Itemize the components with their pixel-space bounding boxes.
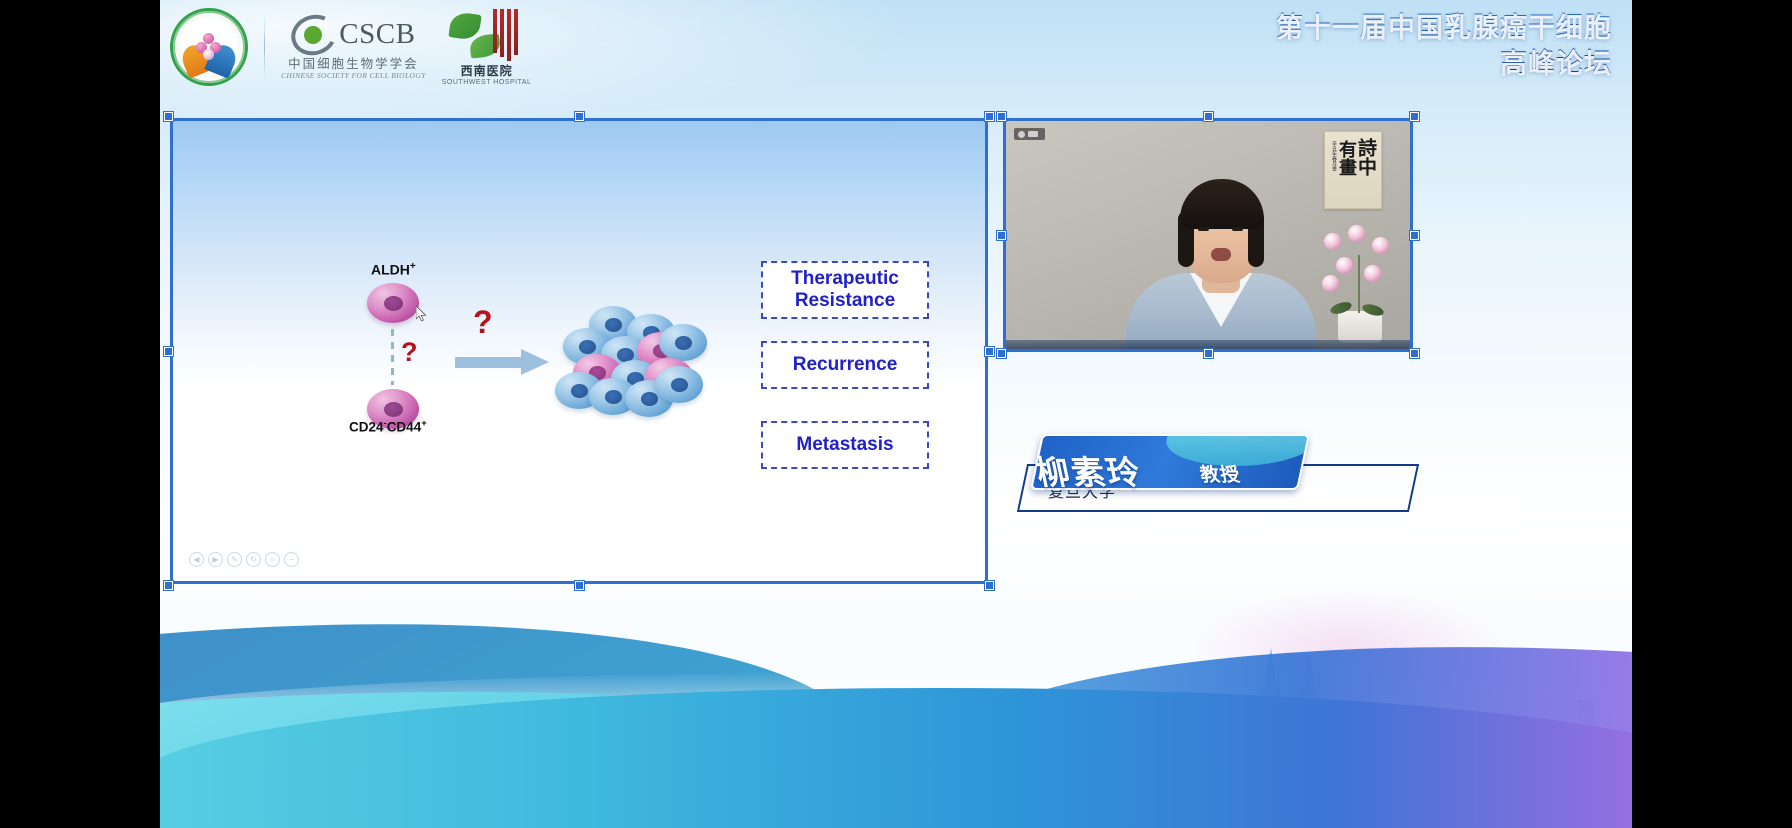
- speaker-title: 教授: [1197, 460, 1243, 487]
- slide-controls-toolbar[interactable]: ◀ ▶ ✎ ↻ ⌕ −: [189, 552, 299, 567]
- scroll-char-left: 有畫: [1336, 140, 1355, 176]
- slide-frame[interactable]: ALDH+ ? CD24-CD44+ ?: [170, 118, 988, 584]
- resize-handle-top-right[interactable]: [985, 112, 994, 121]
- cscb-english-name: CHINESE SOCIETY FOR CELL BIOLOGY: [281, 72, 426, 80]
- logo-flower-icon: [196, 33, 222, 61]
- hospital-chinese-name: 西南医院: [461, 62, 513, 79]
- outcome-box-metastasis: Metastasis: [761, 421, 929, 469]
- video-resize-handle-top-right[interactable]: [1410, 112, 1419, 121]
- cscb-mark-icon: [291, 15, 337, 55]
- cscb-logo: CSCB 中国细胞生物学学会 CHINESE SOCIETY FOR CELL …: [281, 15, 426, 80]
- question-mark-small: ?: [401, 337, 418, 368]
- speaker-nameplate: 复旦大学 柳素玲 教授: [1020, 440, 1420, 512]
- speaker-figure: [1126, 181, 1316, 349]
- resize-handle-middle-left[interactable]: [164, 347, 173, 356]
- slide-diagram: ALDH+ ? CD24-CD44+ ?: [173, 121, 985, 581]
- resize-handle-middle-right[interactable]: [985, 347, 994, 356]
- cscb-chinese-name: 中国细胞生物学学会: [288, 58, 419, 71]
- magnifier-icon[interactable]: ⌕: [265, 552, 280, 567]
- camera-icon: [1028, 131, 1038, 137]
- event-title-line2: 高峰论坛: [1276, 46, 1612, 82]
- event-title-line1: 第十一届中国乳腺癌干细胞: [1276, 10, 1612, 46]
- video-resize-handle-bottom-right[interactable]: [1410, 349, 1419, 358]
- pen-icon[interactable]: ✎: [227, 552, 242, 567]
- question-mark-large: ?: [473, 304, 493, 341]
- video-resize-handle-top-left[interactable]: [997, 112, 1006, 121]
- cscb-abbr: CSCB: [339, 20, 415, 49]
- resize-handle-bottom-right[interactable]: [985, 581, 994, 590]
- scroll-char-right: 詩中: [1355, 138, 1375, 176]
- outcome-line-1: Therapeutic: [791, 268, 899, 290]
- mouse-cursor-icon: [416, 306, 427, 322]
- resize-handle-top-center[interactable]: [575, 112, 584, 121]
- letterbox-left: [0, 0, 160, 828]
- video-resize-handle-bottom-center[interactable]: [1204, 349, 1213, 358]
- outcome-box-therapeutic-resistance: Therapeutic Resistance: [761, 261, 929, 319]
- minus-icon[interactable]: −: [284, 552, 299, 567]
- hospital-english-name: SOUTHWEST HOSPITAL: [442, 79, 532, 86]
- resize-handle-bottom-left[interactable]: [164, 581, 173, 590]
- video-bottom-bar: [1006, 340, 1410, 349]
- southwest-hospital-mark-icon: [450, 9, 524, 61]
- logo-bar: CSCB 中国细胞生物学学会 CHINESE SOCIETY FOR CELL …: [170, 8, 531, 86]
- resize-handle-bottom-center[interactable]: [575, 581, 584, 590]
- outcome-line-2: Resistance: [791, 290, 899, 312]
- speaker-video-frame[interactable]: 詩中 有畫 辛丑年春月書: [1003, 118, 1413, 352]
- rotate-icon[interactable]: ↻: [246, 552, 261, 567]
- scroll-signature: 辛丑年春月書: [1331, 141, 1338, 171]
- aldh-label: ALDH+: [371, 261, 416, 278]
- orchid-plant: [1314, 223, 1406, 343]
- speaker-video-region[interactable]: 詩中 有畫 辛丑年春月書: [1003, 118, 1413, 352]
- play-icon[interactable]: ▶: [208, 552, 223, 567]
- video-resize-handle-middle-right[interactable]: [1410, 231, 1419, 240]
- speaker-name: 柳素玲: [1031, 446, 1146, 494]
- slide-share-region[interactable]: ALDH+ ? CD24-CD44+ ?: [170, 118, 988, 584]
- tumor-cell-cluster: [555, 306, 693, 414]
- video-status-badge: [1014, 128, 1045, 140]
- outcome-box-recurrence: Recurrence: [761, 341, 929, 389]
- aldh-positive-cell: [367, 283, 419, 323]
- video-resize-handle-top-center[interactable]: [1204, 112, 1213, 121]
- resize-handle-top-left[interactable]: [164, 112, 173, 121]
- mic-icon: [1018, 131, 1025, 138]
- transition-arrow-icon: [455, 349, 549, 375]
- letterbox-right: [1632, 0, 1792, 828]
- screenshot-root: CSCB 中国细胞生物学学会 CHINESE SOCIETY FOR CELL …: [0, 0, 1792, 828]
- video-resize-handle-middle-left[interactable]: [997, 231, 1006, 240]
- event-title: 第十一届中国乳腺癌干细胞 高峰论坛: [1276, 10, 1612, 83]
- previous-icon[interactable]: ◀: [189, 552, 204, 567]
- dashed-connector: [391, 329, 394, 385]
- broadcast-canvas: CSCB 中国细胞生物学学会 CHINESE SOCIETY FOR CELL …: [160, 0, 1632, 828]
- wall-calligraphy-scroll: 詩中 有畫 辛丑年春月書: [1324, 131, 1382, 209]
- cd24-cd44-label: CD24-CD44+: [349, 418, 427, 435]
- video-resize-handle-bottom-left[interactable]: [997, 349, 1006, 358]
- symposium-logo-icon: [170, 8, 248, 86]
- southwest-hospital-logo: 西南医院 SOUTHWEST HOSPITAL: [442, 9, 532, 86]
- logo-divider: [264, 15, 265, 79]
